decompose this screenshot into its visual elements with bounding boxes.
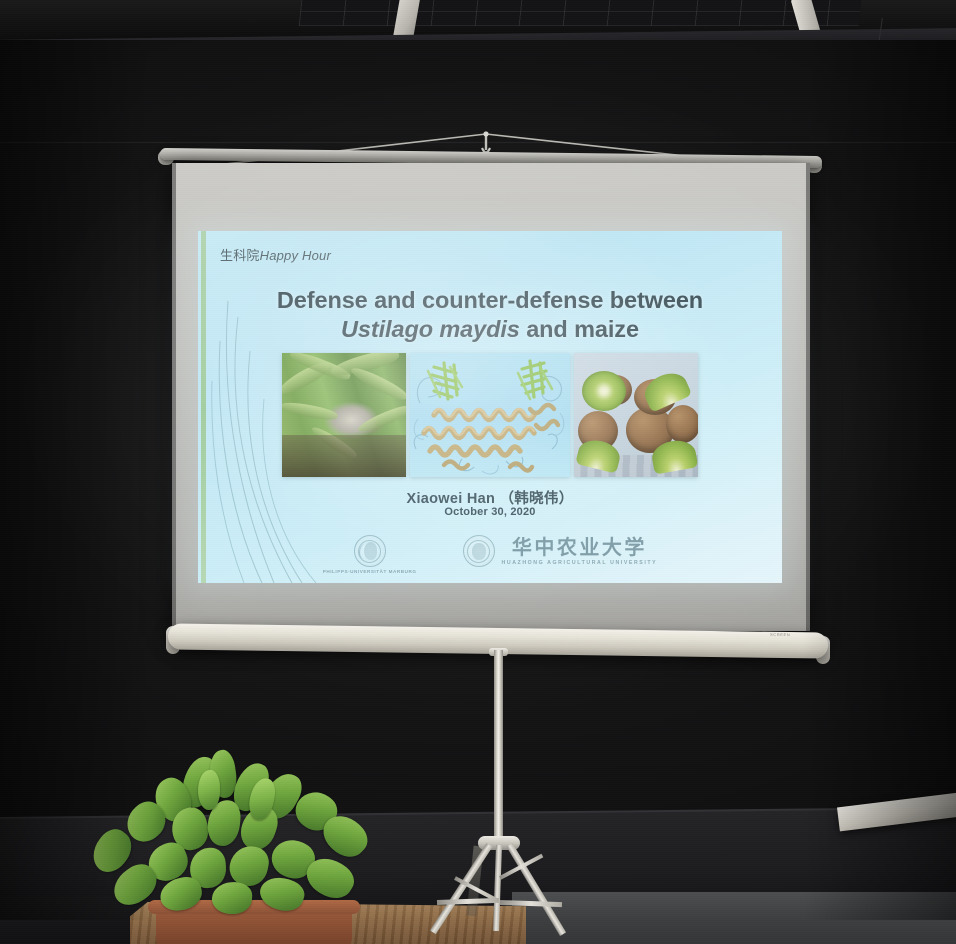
slide-date: October 30, 2020: [198, 506, 782, 518]
ceiling-grid-panel: [299, 0, 862, 26]
slide-presenter-name: Xiaowei Han （韩晓伟）: [198, 487, 782, 508]
huazhong-agricultural-university-logo: 华中农业大学 HUAZHONG AGRICULTURAL UNIVERSITY: [463, 535, 658, 567]
projection-screen[interactable]: 生科院Happy Hour Defense and counter-defens…: [172, 163, 810, 631]
projected-slide: 生科院Happy Hour Defense and counter-defens…: [198, 231, 782, 583]
hzau-chinese-name: 华中农业大学: [512, 537, 647, 557]
seal-icon: [354, 535, 386, 567]
maize-smut-photo: [282, 353, 406, 477]
slide-title-tail: and maize: [520, 316, 639, 342]
slide-header: 生科院Happy Hour: [220, 245, 331, 264]
slide-header-english: Happy Hour: [260, 248, 331, 263]
kiwifruit-photo: [574, 353, 698, 477]
slide-logo-row: PHILIPPS-UNIVERSITÄT MARBURG 华中农业大学 HUAZ…: [198, 535, 782, 574]
slide-figure-row: [198, 353, 782, 477]
slide-title-line1: Defense and counter-defense between: [198, 286, 782, 315]
slide-header-chinese: 生科院: [220, 248, 260, 263]
hzau-english-name: HUAZHONG AGRICULTURAL UNIVERSITY: [502, 560, 658, 566]
slide-title-species: Ustilago maydis: [341, 316, 520, 342]
floor-gray: [512, 892, 956, 944]
potted-plant: [60, 748, 400, 944]
screen-case-brand-label: SCREEN: [770, 632, 790, 637]
screen-mask-right: [806, 163, 810, 631]
screenshot-root: 生科院Happy Hour Defense and counter-defens…: [0, 0, 956, 944]
protein-structure-figure: [410, 353, 570, 477]
marburg-logo-subtitle: PHILIPPS-UNIVERSITÄT MARBURG: [323, 569, 417, 574]
slide-title-line2: Ustilago maydis and maize: [198, 315, 782, 344]
slide-title: Defense and counter-defense between Usti…: [198, 286, 782, 343]
plant-foliage: [60, 748, 400, 944]
hzau-seal-icon: [463, 535, 495, 567]
protein-cartoon-svg: [410, 353, 570, 477]
screen-mask-left: [172, 163, 176, 631]
tripod-center-pole: [494, 650, 503, 846]
marburg-university-seal: PHILIPPS-UNIVERSITÄT MARBURG: [323, 535, 417, 574]
